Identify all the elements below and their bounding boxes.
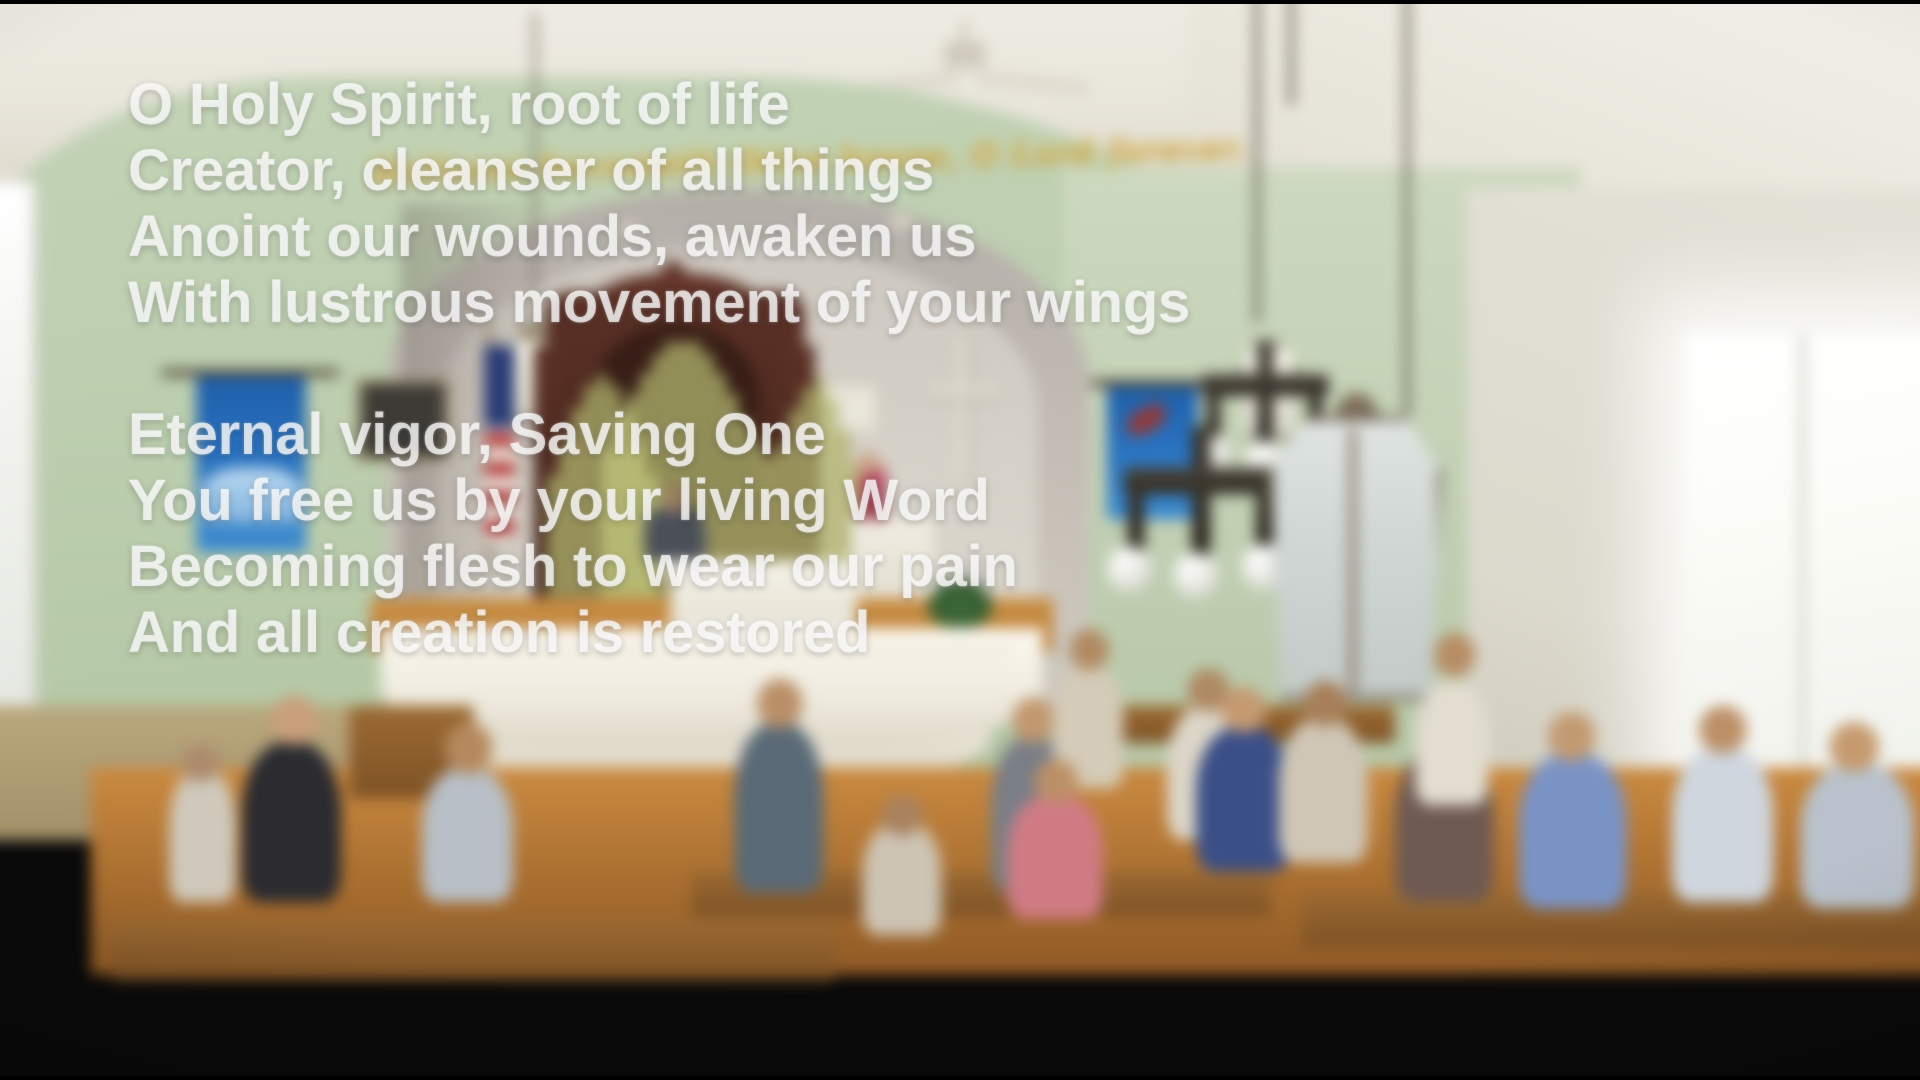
congregant-head bbox=[1221, 687, 1267, 733]
congregant bbox=[242, 742, 341, 902]
chandelier-arm bbox=[1192, 484, 1209, 556]
organ-pipe bbox=[616, 419, 625, 600]
letterbox-top bbox=[0, 0, 1920, 4]
potted-plant bbox=[924, 576, 996, 628]
congregant bbox=[1519, 753, 1627, 908]
chandelier-globe bbox=[1107, 546, 1153, 592]
chandelier-left bbox=[1103, 426, 1300, 623]
congregant-head bbox=[1434, 633, 1475, 676]
right-window-mullion bbox=[1798, 333, 1806, 819]
congregant-head bbox=[1070, 629, 1109, 670]
organist-head bbox=[662, 486, 689, 513]
us-flag bbox=[484, 345, 515, 542]
congregant-head bbox=[1012, 697, 1055, 743]
recessed-light bbox=[710, 236, 731, 245]
organ-pipe bbox=[604, 450, 613, 600]
organ-pipe bbox=[585, 386, 594, 597]
letterbox-bottom bbox=[0, 1076, 1920, 1080]
chandelier-chain bbox=[1405, 0, 1409, 416]
wall-inscription-text: Holiness becometh thine house, O Lord fo… bbox=[369, 125, 1065, 240]
congregant bbox=[1008, 795, 1103, 919]
congregant-head bbox=[1035, 759, 1078, 802]
pew bbox=[111, 918, 836, 980]
wall-cross bbox=[958, 333, 967, 478]
video-stage: Holiness becometh thine house, O Lord fo… bbox=[0, 0, 1920, 1080]
banner-rod bbox=[161, 369, 339, 376]
organ-pipe bbox=[573, 408, 582, 597]
congregant-head bbox=[1829, 722, 1879, 772]
congregant-head bbox=[182, 745, 219, 782]
congregant bbox=[1279, 718, 1368, 863]
wall-picture-frame bbox=[358, 380, 449, 461]
organ-pipe bbox=[641, 372, 650, 600]
chandelier-chain bbox=[1255, 0, 1259, 323]
congregant bbox=[1672, 747, 1773, 902]
chandelier-chain bbox=[1289, 0, 1293, 105]
church-sanctuary-video: Holiness becometh thine house, O Lord fo… bbox=[0, 0, 1920, 1080]
ceiling-fan-hub bbox=[944, 41, 985, 68]
congregant-head bbox=[881, 795, 922, 836]
congregant bbox=[1800, 764, 1914, 909]
banner-left bbox=[196, 376, 306, 552]
congregant-head bbox=[1548, 712, 1596, 762]
congregant bbox=[734, 722, 823, 893]
chancel-rail bbox=[411, 631, 1011, 654]
congregant-head bbox=[445, 722, 493, 774]
congregant bbox=[1196, 726, 1291, 871]
wall-cross-arm bbox=[927, 387, 999, 396]
congregant-head bbox=[1699, 706, 1747, 754]
congregant bbox=[422, 768, 513, 903]
congregant-head bbox=[271, 695, 319, 745]
chandelier-globe bbox=[1173, 552, 1219, 598]
congregant bbox=[169, 768, 235, 903]
congregant-head bbox=[1304, 681, 1347, 727]
congregant-head bbox=[757, 679, 803, 729]
organ-pipe bbox=[560, 441, 569, 597]
left-window bbox=[0, 183, 39, 763]
lantern-big-mullion bbox=[1349, 428, 1356, 693]
congregant bbox=[863, 822, 942, 936]
congregant bbox=[1415, 681, 1487, 805]
recessed-light bbox=[794, 230, 815, 239]
lantern-chain bbox=[534, 12, 537, 343]
pastor-head bbox=[857, 452, 880, 475]
banner-left-art bbox=[202, 468, 301, 524]
organ-pipe bbox=[548, 475, 557, 597]
organ-pipe bbox=[629, 393, 638, 600]
